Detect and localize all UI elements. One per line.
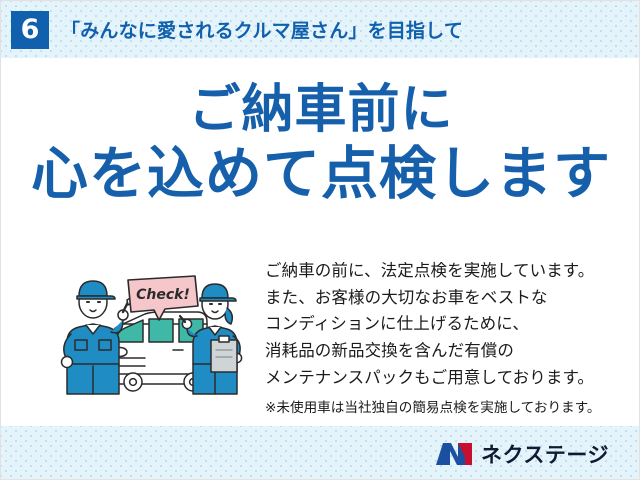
body-copy-line: 消耗品の新品交換を含んだ有償の — [265, 338, 631, 365]
page-title-line-2: 心を込めて点検します — [1, 144, 640, 206]
check-bubble-label: Check! — [136, 287, 190, 303]
body-copy-line: また、お客様の大切なお車をベストな — [265, 285, 631, 312]
body-copy-line: メンテナンスパックもご用意しております。 — [265, 365, 631, 392]
body-copy-note: ※未使用車は当社独自の簡易点検を実施しております。 — [265, 397, 631, 419]
mechanics-illustration: Check! — [53, 266, 253, 398]
page-title: ご納車前に 心を込めて点検します — [1, 82, 640, 206]
body-copy-line: ご納車の前に、法定点検を実施しています。 — [265, 258, 631, 285]
body-copy-line: コンディションに仕上げるために、 — [265, 311, 631, 338]
promo-card: 6 「みんなに愛されるクルマ屋さん」を目指して ご納車前に 心を込めて点検します… — [0, 0, 640, 480]
nexstage-n-icon — [434, 440, 474, 468]
header-title: 「みんなに愛されるクルマ屋さん」を目指して — [61, 16, 463, 43]
main-content: ご納車前に 心を込めて点検します ご納車の前に、法定点検を実施しています。 また… — [1, 58, 640, 426]
brand-name: ネクステージ — [481, 439, 609, 469]
section-number-badge: 6 — [11, 11, 49, 49]
footer-band: ネクステージ — [1, 426, 640, 480]
page-title-line-1: ご納車前に — [1, 82, 640, 138]
brand-logo: ネクステージ — [434, 439, 609, 469]
body-copy: ご納車の前に、法定点検を実施しています。 また、お客様の大切なお車をベストな コ… — [265, 258, 631, 419]
header-band: 6 「みんなに愛されるクルマ屋さん」を目指して — [1, 1, 640, 58]
